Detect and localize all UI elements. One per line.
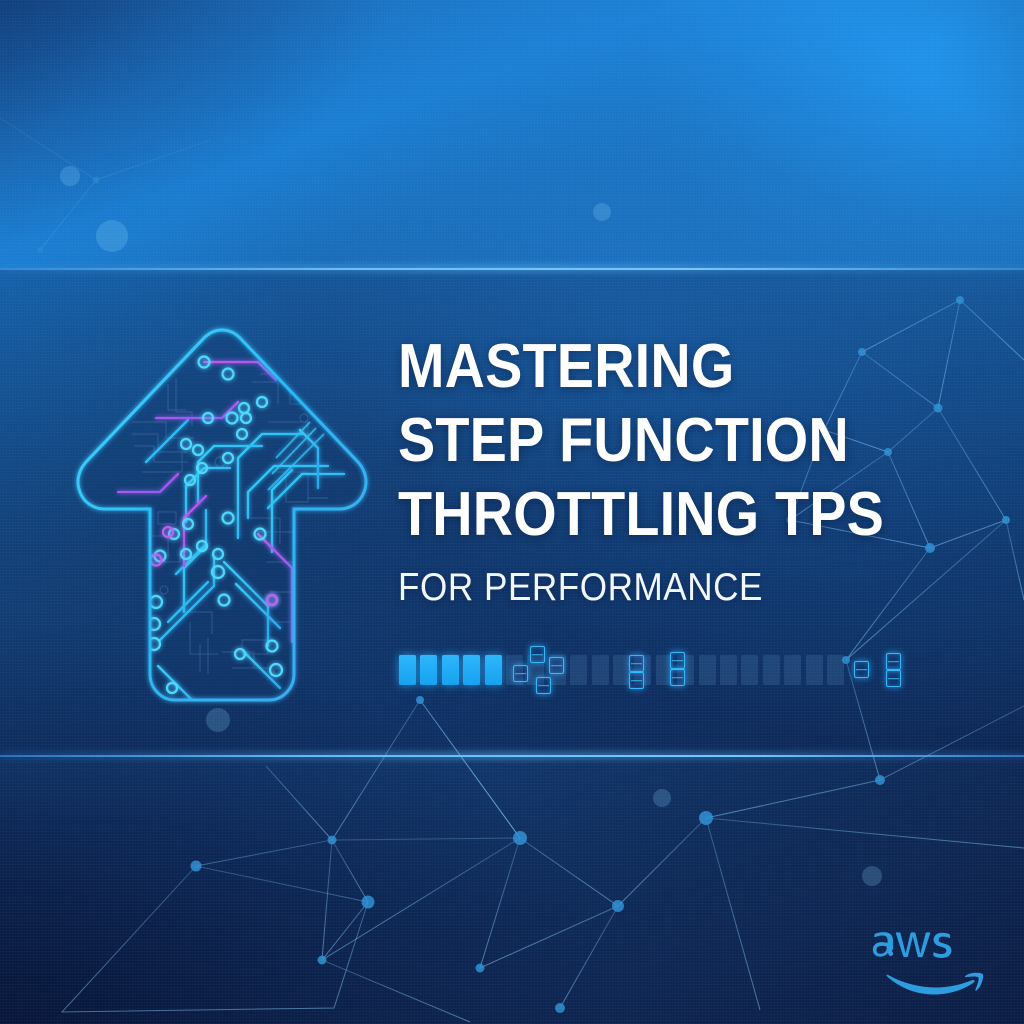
headline-line-3: THROTTLING TPS <box>398 478 866 552</box>
progress-block <box>399 655 416 685</box>
progress-chip-icon <box>629 655 644 672</box>
progress-block <box>485 655 502 685</box>
progress-strip <box>399 655 847 689</box>
circuit-arrow-icon <box>72 322 372 712</box>
progress-block <box>741 655 758 685</box>
headline-subtitle: FOR PERFORMANCE <box>398 566 866 610</box>
progress-block <box>699 655 716 685</box>
progress-chip-icon <box>670 669 685 686</box>
aws-logo <box>862 925 986 997</box>
poster-canvas: MASTERING STEP FUNCTION THROTTLING TPS F… <box>0 0 1024 1024</box>
progress-block <box>827 655 844 685</box>
progress-chip-icon <box>530 646 545 663</box>
progress-block <box>420 655 437 685</box>
headline-block: MASTERING STEP FUNCTION THROTTLING TPS F… <box>398 330 918 610</box>
progress-block <box>720 655 737 685</box>
progress-block <box>570 655 587 685</box>
progress-block <box>463 655 480 685</box>
progress-block <box>592 655 609 685</box>
progress-chip-icon <box>670 652 685 669</box>
progress-chip-icon <box>513 665 528 682</box>
progress-block <box>613 655 630 685</box>
progress-chip-icon <box>549 657 564 674</box>
divider-line-bottom <box>0 754 1024 757</box>
progress-chip-icon <box>629 672 644 689</box>
divider-bottom-core <box>0 755 1024 757</box>
divider-line-top <box>0 267 1024 270</box>
progress-chip-icon <box>886 670 901 687</box>
progress-block <box>806 655 823 685</box>
progress-chip-icon <box>886 653 901 670</box>
divider-top-core <box>0 268 1024 270</box>
progress-block <box>442 655 459 685</box>
progress-chip-icon <box>854 661 869 678</box>
progress-block <box>763 655 780 685</box>
progress-chip-icon <box>536 677 551 694</box>
headline-line-1: MASTERING <box>398 330 866 404</box>
progress-block <box>784 655 801 685</box>
headline-line-2: STEP FUNCTION <box>398 404 866 478</box>
